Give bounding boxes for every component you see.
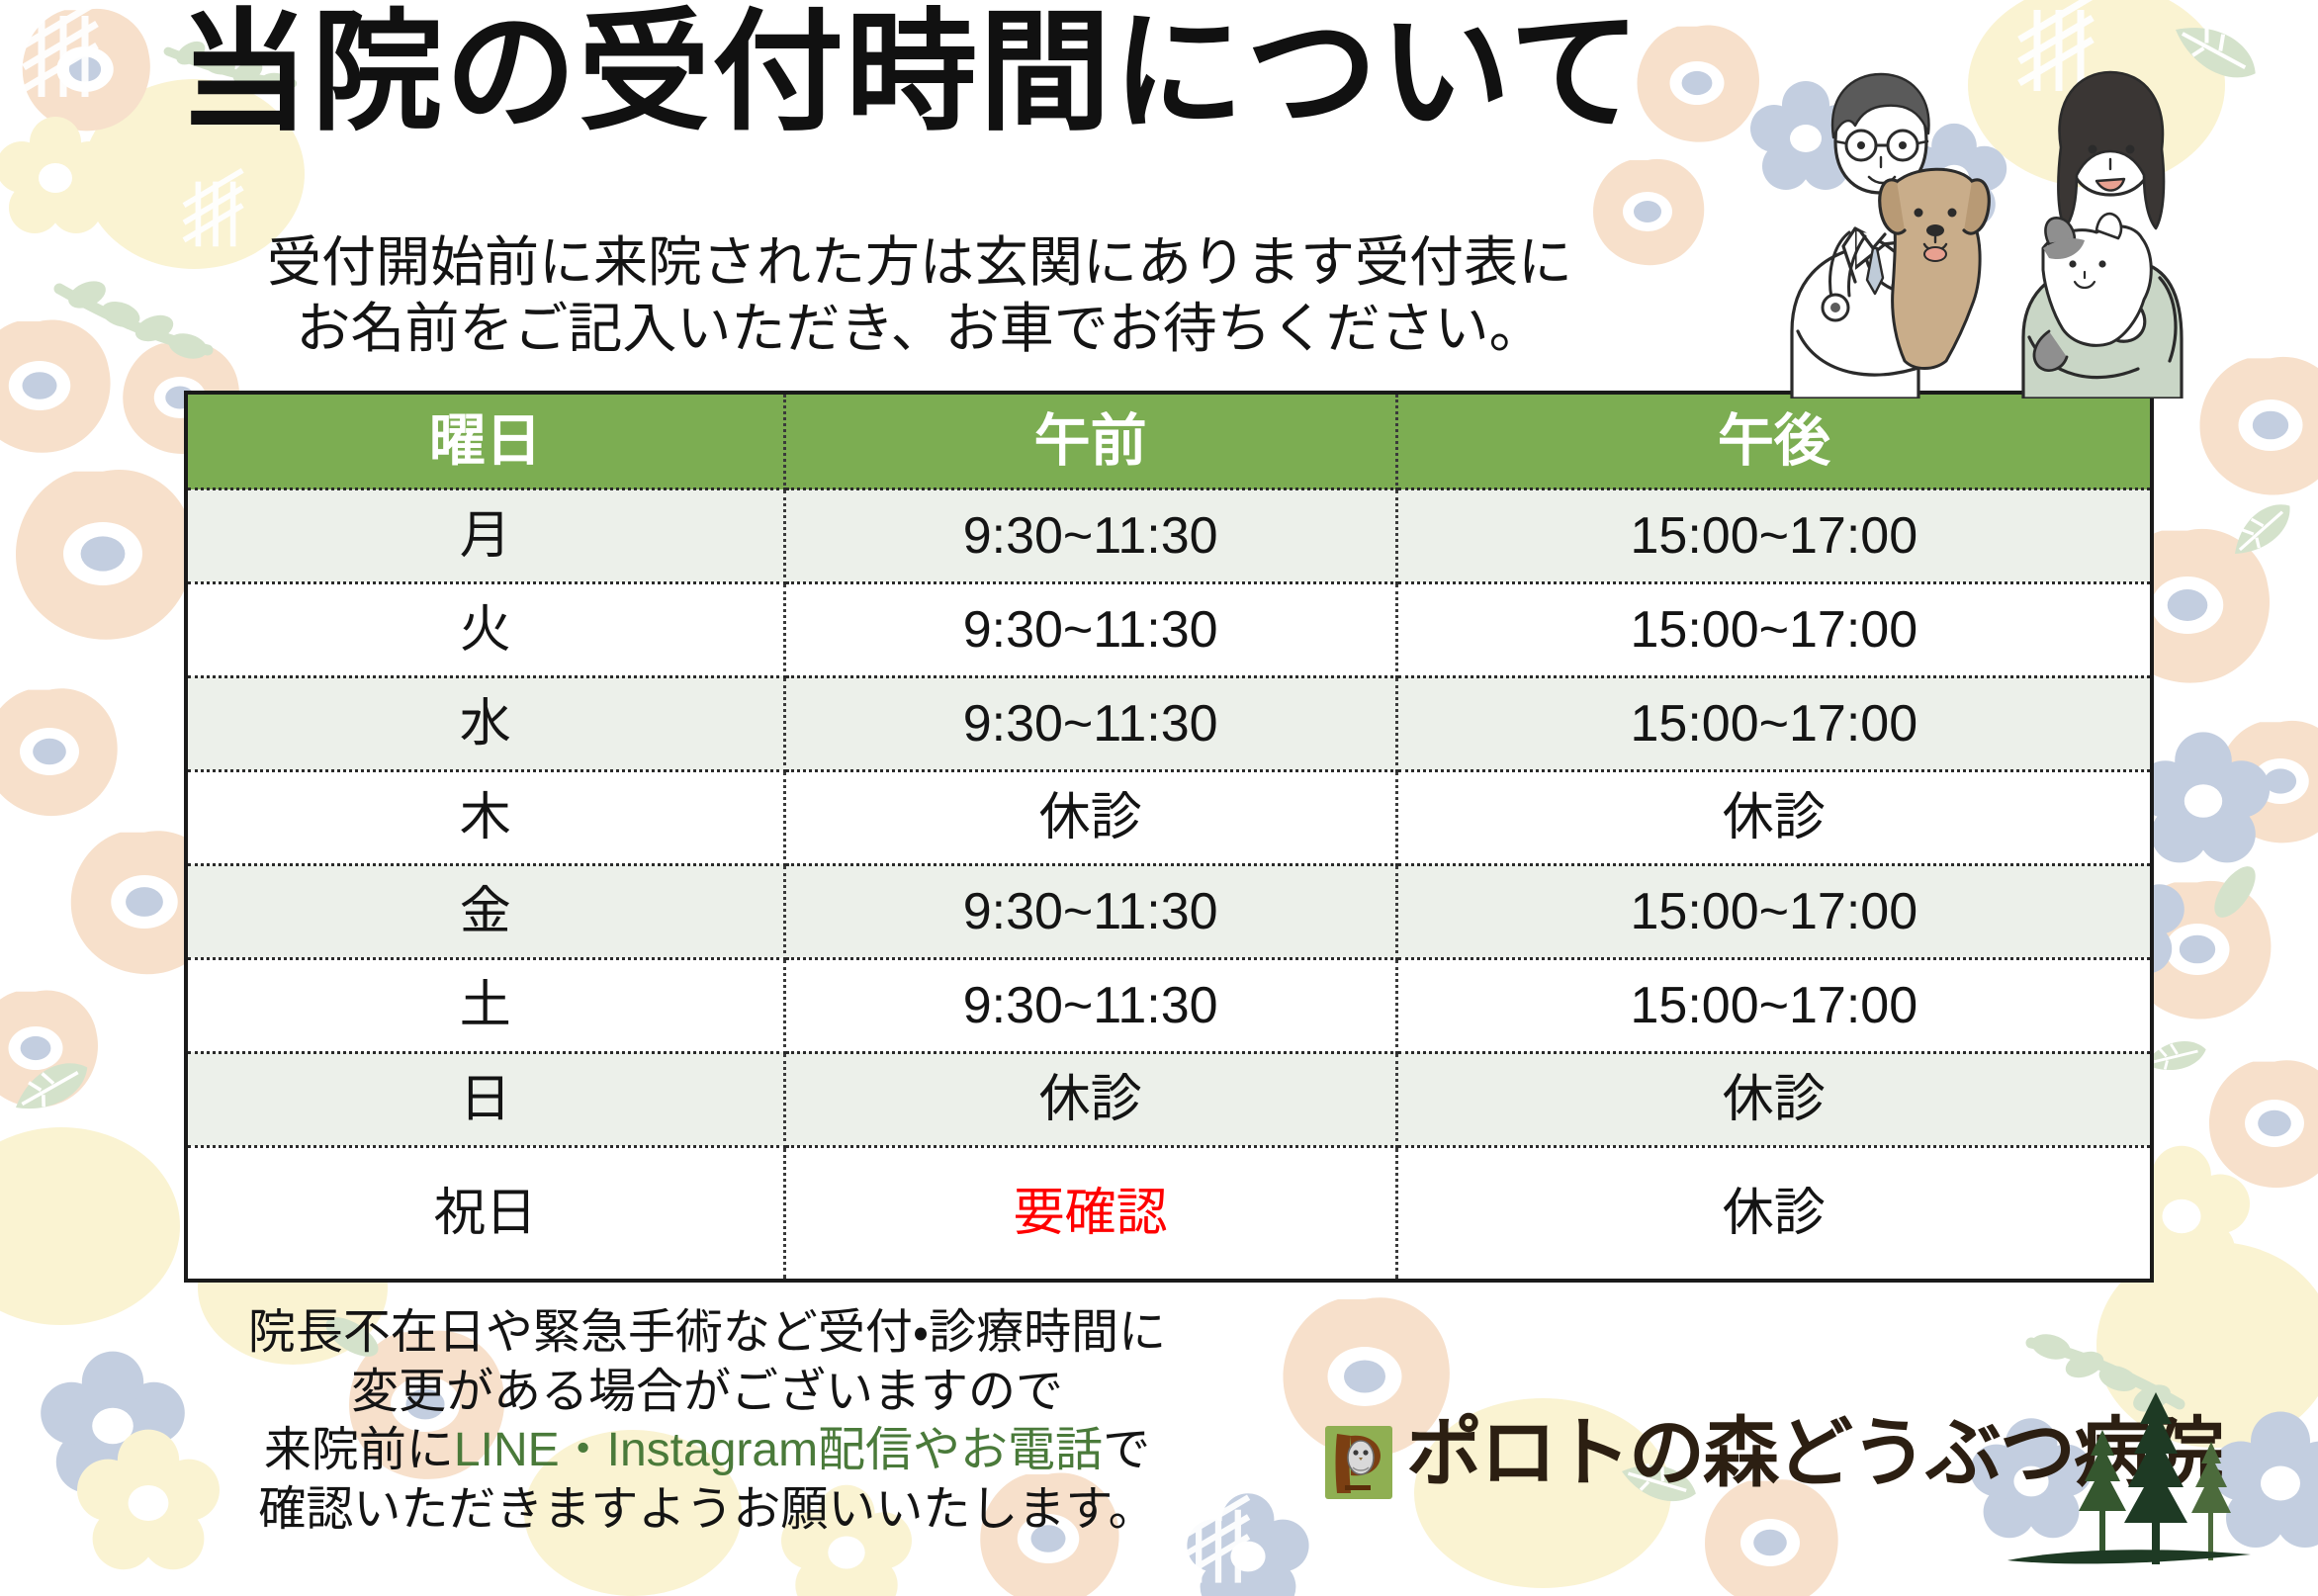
cell-day: 月 — [188, 489, 784, 583]
clinic-logo: ポロトの森どうぶつ病院 — [1315, 1394, 2265, 1582]
poster-root: 当院の受付時間について 受付開始前に来院された方は玄関にあります受付表に お名前… — [0, 0, 2318, 1596]
cell-morning: 9:30~11:30 — [784, 676, 1396, 770]
table-row: 水 9:30~11:30 15:00~17:00 — [188, 676, 2150, 770]
cell-afternoon: 休診 — [1396, 1146, 2150, 1279]
footer-note-block: 院長不在日や緊急手術など受付・診療時間に 変更がある場合がございますので 来院前… — [129, 1303, 1286, 1539]
column-header-afternoon: 午後 — [1396, 395, 2150, 489]
table-row: 土 9:30~11:30 15:00~17:00 — [188, 958, 2150, 1052]
table-row: 日 休診 休診 — [188, 1052, 2150, 1146]
cell-day: 金 — [188, 864, 784, 958]
footer-line-3-suffix: で — [1103, 1424, 1150, 1476]
table-row: 金 9:30~11:30 15:00~17:00 — [188, 864, 2150, 958]
footer-line-4: 確認いただきますようお願いいたします。 — [129, 1480, 1286, 1540]
cell-morning: 休診 — [784, 1052, 1396, 1146]
cell-day: 火 — [188, 582, 784, 676]
reception-hours-table-container: 曜日 午前 午後 月 9:30~11:30 15:00~17:00 火 9:30… — [184, 391, 2154, 1283]
column-header-morning: 午前 — [784, 395, 1396, 489]
table-row: 火 9:30~11:30 15:00~17:00 — [188, 582, 2150, 676]
page-title: 当院の受付時間について — [178, 8, 1859, 139]
cell-day: 土 — [188, 958, 784, 1052]
reception-hours-table: 曜日 午前 午後 月 9:30~11:30 15:00~17:00 火 9:30… — [188, 395, 2150, 1279]
cell-afternoon: 休診 — [1396, 1052, 2150, 1146]
cell-morning: 休診 — [784, 770, 1396, 864]
table-row: 月 9:30~11:30 15:00~17:00 — [188, 489, 2150, 583]
table-row: 祝日 要確認 休診 — [188, 1146, 2150, 1279]
cell-afternoon: 15:00~17:00 — [1396, 582, 2150, 676]
cell-day: 木 — [188, 770, 784, 864]
vet-staff-with-pets-illustration — [1770, 35, 2185, 399]
footer-line-3: 来院前にLINE・Instagram配信やお電話で — [129, 1421, 1286, 1480]
tree-owl-badge-icon — [1323, 1424, 1394, 1501]
cell-day: 水 — [188, 676, 784, 770]
cell-afternoon: 15:00~17:00 — [1396, 676, 2150, 770]
cell-day: 祝日 — [188, 1146, 784, 1279]
footer-line-2: 変更がある場合がございますので — [129, 1363, 1286, 1422]
table-row: 木 休診 休診 — [188, 770, 2150, 864]
cell-day: 日 — [188, 1052, 784, 1146]
cell-morning: 9:30~11:30 — [784, 958, 1396, 1052]
column-header-day: 曜日 — [188, 395, 784, 489]
footer-line-3-prefix: 来院前に — [264, 1424, 454, 1476]
pine-trees-icon — [1909, 1384, 2255, 1572]
footer-contact-channels: LINE・Instagram配信やお電話 — [454, 1424, 1103, 1476]
table-header-row: 曜日 午前 午後 — [188, 395, 2150, 489]
cell-afternoon: 休診 — [1396, 770, 2150, 864]
subtitle-line-2: お名前をご記入いただき、お車でお待ちください。 — [148, 296, 1691, 362]
cell-afternoon: 15:00~17:00 — [1396, 864, 2150, 958]
cell-afternoon: 15:00~17:00 — [1396, 958, 2150, 1052]
subtitle-block: 受付開始前に来院された方は玄関にあります受付表に お名前をご記入いただき、お車で… — [148, 229, 1691, 362]
cell-morning-warning: 要確認 — [784, 1146, 1396, 1279]
cell-morning: 9:30~11:30 — [784, 582, 1396, 676]
cell-morning: 9:30~11:30 — [784, 864, 1396, 958]
cell-morning: 9:30~11:30 — [784, 489, 1396, 583]
footer-line-1: 院長不在日や緊急手術など受付・診療時間に — [129, 1303, 1286, 1363]
subtitle-line-1: 受付開始前に来院された方は玄関にあります受付表に — [148, 229, 1691, 296]
cell-afternoon: 15:00~17:00 — [1396, 489, 2150, 583]
